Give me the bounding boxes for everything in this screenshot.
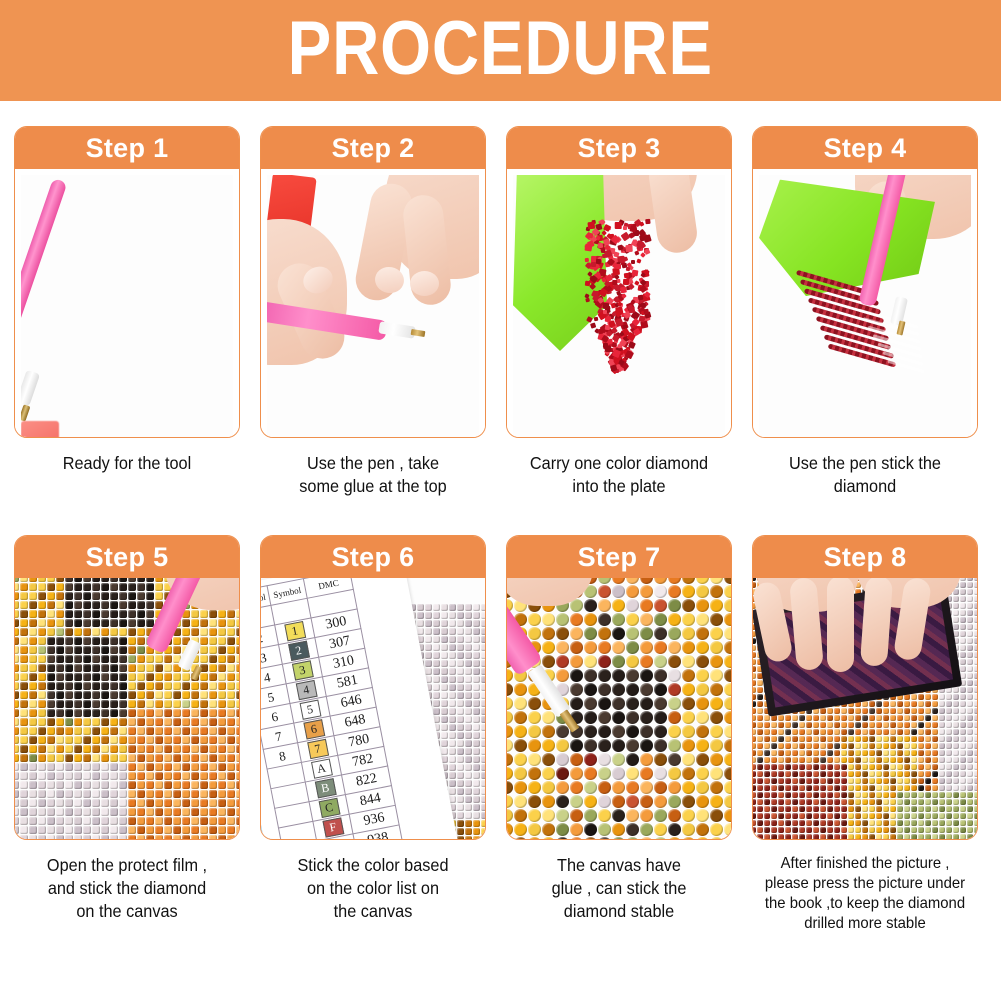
mosaic-bead bbox=[191, 619, 199, 627]
mosaic-bead bbox=[449, 772, 456, 779]
mosaic-bead bbox=[960, 589, 966, 595]
mosaic-bead bbox=[584, 711, 597, 724]
mosaic-bead bbox=[236, 763, 240, 771]
mosaic-bead bbox=[128, 592, 136, 600]
mosaic-bead bbox=[967, 743, 973, 749]
mosaic-bead bbox=[757, 708, 763, 714]
mosaic-bead bbox=[236, 808, 240, 816]
caption-line: the book ,to keep the diamond bbox=[760, 894, 970, 914]
mosaic-bead bbox=[92, 817, 100, 825]
mosaic-bead bbox=[960, 701, 966, 707]
mosaic-bead bbox=[164, 664, 172, 672]
mosaic-bead bbox=[15, 799, 19, 807]
mosaic-bead bbox=[918, 771, 924, 777]
mosaic-bead bbox=[29, 673, 37, 681]
mosaic-bead bbox=[119, 628, 127, 636]
mosaic-bead bbox=[65, 578, 73, 582]
mosaic-bead bbox=[890, 722, 896, 728]
mosaic-bead bbox=[20, 583, 28, 591]
mosaic-bead bbox=[528, 739, 541, 752]
mosaic-bead bbox=[974, 764, 978, 770]
mosaic-bead bbox=[47, 799, 55, 807]
mosaic-bead bbox=[191, 826, 199, 834]
mosaic-bead bbox=[74, 790, 82, 798]
mosaic-bead bbox=[65, 646, 73, 654]
mosaic-bead bbox=[481, 692, 485, 699]
chart-symbol-swatch: 4 bbox=[295, 680, 317, 700]
mosaic-bead bbox=[191, 817, 199, 825]
mosaic-bead bbox=[556, 613, 569, 626]
mosaic-bead bbox=[890, 708, 896, 714]
mosaic-bead bbox=[38, 799, 46, 807]
mosaic-bead bbox=[911, 701, 917, 707]
mosaic-bead bbox=[556, 627, 569, 640]
mosaic-bead bbox=[785, 806, 791, 812]
mosaic-bead bbox=[556, 781, 569, 794]
mosaic-bead bbox=[101, 691, 109, 699]
mosaic-bead bbox=[974, 834, 978, 840]
diamond-bead bbox=[643, 308, 648, 313]
mosaic-bead bbox=[47, 772, 55, 780]
mosaic-bead bbox=[974, 610, 978, 616]
mosaic-bead bbox=[925, 799, 931, 805]
mosaic-bead bbox=[173, 763, 181, 771]
mosaic-bead bbox=[92, 745, 100, 753]
mosaic-bead bbox=[946, 785, 952, 791]
mosaic-bead bbox=[514, 711, 527, 724]
mosaic-bead bbox=[441, 628, 448, 635]
mosaic-bead bbox=[110, 781, 118, 789]
mosaic-bead bbox=[218, 808, 226, 816]
mosaic-bead bbox=[640, 739, 653, 752]
mosaic-bead bbox=[813, 757, 819, 763]
mosaic-bead bbox=[47, 637, 55, 645]
mosaic-bead bbox=[841, 778, 847, 784]
loose-diamonds-group bbox=[571, 211, 665, 387]
mosaic-bead bbox=[441, 676, 448, 683]
mosaic-bead bbox=[29, 808, 37, 816]
mosaic-bead bbox=[696, 781, 709, 794]
mosaic-bead bbox=[918, 834, 924, 840]
mosaic-bead bbox=[200, 781, 208, 789]
mosaic-bead bbox=[953, 687, 959, 693]
mosaic-bead bbox=[465, 780, 472, 787]
mosaic-bead bbox=[974, 806, 978, 812]
mosaic-bead bbox=[137, 745, 145, 753]
mosaic-bead bbox=[827, 736, 833, 742]
mosaic-bead bbox=[932, 820, 938, 826]
mosaic-bead bbox=[799, 722, 805, 728]
mosaic-bead bbox=[960, 578, 966, 581]
mosaic-bead bbox=[904, 722, 910, 728]
mosaic-bead bbox=[457, 812, 464, 819]
mosaic-bead bbox=[200, 628, 208, 636]
mosaic-bead bbox=[890, 820, 896, 826]
mosaic-bead bbox=[20, 610, 28, 618]
mosaic-bead bbox=[570, 795, 583, 808]
mosaic-bead bbox=[65, 601, 73, 609]
mosaic-bead bbox=[119, 664, 127, 672]
mosaic-bead bbox=[953, 806, 959, 812]
mosaic-bead bbox=[960, 645, 966, 651]
mosaic-bead bbox=[960, 708, 966, 714]
mosaic-bead bbox=[834, 729, 840, 735]
mosaic-bead bbox=[806, 827, 812, 833]
step-1-illustration bbox=[21, 175, 233, 438]
mosaic-bead bbox=[173, 682, 181, 690]
mosaic-bead bbox=[481, 700, 485, 707]
mosaic-bead bbox=[813, 792, 819, 798]
mosaic-bead bbox=[806, 757, 812, 763]
mosaic-bead bbox=[182, 817, 190, 825]
mosaic-bead bbox=[507, 837, 513, 839]
mosaic-bead bbox=[457, 796, 464, 803]
mosaic-bead bbox=[918, 715, 924, 721]
mosaic-bead bbox=[92, 664, 100, 672]
diamond-bead bbox=[638, 294, 644, 300]
mosaic-bead bbox=[182, 682, 190, 690]
mosaic-bead bbox=[953, 624, 959, 630]
mosaic-bead bbox=[792, 743, 798, 749]
mosaic-bead bbox=[155, 664, 163, 672]
mosaic-bead bbox=[473, 780, 480, 787]
mosaic-bead bbox=[83, 835, 91, 840]
mosaic-bead bbox=[83, 826, 91, 834]
mosaic-bead bbox=[56, 691, 64, 699]
mosaic-bead bbox=[200, 619, 208, 627]
mosaic-bead bbox=[640, 697, 653, 710]
mosaic-bead bbox=[682, 655, 695, 668]
diamond-bead bbox=[587, 221, 595, 229]
mosaic-bead bbox=[918, 806, 924, 812]
mosaic-bead bbox=[29, 736, 37, 744]
mosaic-bead bbox=[56, 790, 64, 798]
mosaic-bead bbox=[939, 757, 945, 763]
mosaic-bead bbox=[56, 835, 64, 840]
mosaic-bead bbox=[449, 748, 456, 755]
mosaic-bead bbox=[449, 660, 456, 667]
mosaic-bead bbox=[710, 599, 723, 612]
mosaic-bead bbox=[771, 750, 777, 756]
mosaic-bead bbox=[74, 745, 82, 753]
mosaic-bead bbox=[967, 659, 973, 665]
mosaic-bead bbox=[119, 578, 127, 582]
mosaic-bead bbox=[771, 729, 777, 735]
mosaic-bead bbox=[890, 799, 896, 805]
mosaic-bead bbox=[65, 664, 73, 672]
mosaic-bead bbox=[110, 817, 118, 825]
mosaic-bead bbox=[953, 715, 959, 721]
mosaic-bead bbox=[911, 708, 917, 714]
mosaic-bead bbox=[542, 711, 555, 724]
mosaic-bead bbox=[967, 596, 973, 602]
mosaic-bead bbox=[897, 729, 903, 735]
mosaic-bead bbox=[209, 745, 217, 753]
mosaic-bead bbox=[778, 834, 784, 840]
mosaic-bead bbox=[925, 792, 931, 798]
mosaic-bead bbox=[47, 736, 55, 744]
mosaic-bead bbox=[834, 792, 840, 798]
mosaic-bead bbox=[911, 736, 917, 742]
mosaic-bead bbox=[753, 673, 756, 679]
mosaic-bead bbox=[155, 772, 163, 780]
mosaic-bead bbox=[911, 834, 917, 840]
mosaic-bead bbox=[932, 729, 938, 735]
mosaic-bead bbox=[682, 599, 695, 612]
mosaic-bead bbox=[542, 837, 555, 839]
mosaic-bead bbox=[465, 820, 472, 827]
mosaic-bead bbox=[883, 771, 889, 777]
mosaic-bead bbox=[626, 585, 639, 598]
mosaic-bead bbox=[710, 627, 723, 640]
mosaic-bead bbox=[92, 691, 100, 699]
mosaic-bead bbox=[119, 691, 127, 699]
diamond-bead bbox=[596, 259, 601, 264]
mosaic-bead bbox=[542, 739, 555, 752]
mosaic-bead bbox=[753, 722, 756, 728]
mosaic-bead bbox=[65, 781, 73, 789]
mosaic-bead bbox=[820, 778, 826, 784]
mosaic-bead bbox=[668, 599, 681, 612]
mosaic-bead bbox=[974, 582, 978, 588]
mosaic-bead bbox=[918, 778, 924, 784]
mosaic-bead bbox=[869, 757, 875, 763]
chart-symbol-swatch: 6 bbox=[303, 719, 325, 739]
mosaic-bead bbox=[29, 718, 37, 726]
mosaic-bead bbox=[15, 664, 19, 672]
mosaic-bead bbox=[191, 709, 199, 717]
mosaic-bead bbox=[724, 599, 731, 612]
mosaic-bead bbox=[771, 785, 777, 791]
mosaic-bead bbox=[974, 694, 978, 700]
mosaic-bead bbox=[20, 745, 28, 753]
mosaic-bead bbox=[654, 669, 667, 682]
mosaic-bead bbox=[897, 715, 903, 721]
mosaic-bead bbox=[441, 700, 448, 707]
mosaic-bead bbox=[92, 736, 100, 744]
mosaic-bead bbox=[119, 700, 127, 708]
mosaic-bead bbox=[209, 682, 217, 690]
mosaic-bead bbox=[598, 809, 611, 822]
mosaic-bead bbox=[584, 767, 597, 780]
mosaic-bead bbox=[556, 823, 569, 836]
mosaic-bead bbox=[83, 745, 91, 753]
step-card-4: Step 4 Use the pen stick the diamond bbox=[752, 126, 978, 498]
mosaic-bead bbox=[110, 578, 118, 582]
mosaic-bead bbox=[119, 745, 127, 753]
mosaic-bead bbox=[65, 745, 73, 753]
mosaic-bead bbox=[110, 610, 118, 618]
mosaic-bead bbox=[967, 603, 973, 609]
mosaic-bead bbox=[191, 754, 199, 762]
mosaic-bead bbox=[792, 827, 798, 833]
mosaic-bead bbox=[967, 757, 973, 763]
mosaic-bead bbox=[47, 808, 55, 816]
mosaic-bead bbox=[932, 792, 938, 798]
mosaic-bead bbox=[191, 610, 199, 618]
mosaic-bead bbox=[848, 827, 854, 833]
caption-line: some glue at the top bbox=[268, 475, 478, 498]
mosaic-bead bbox=[696, 585, 709, 598]
mosaic-bead bbox=[724, 767, 731, 780]
mosaic-bead bbox=[876, 743, 882, 749]
mosaic-bead bbox=[218, 610, 226, 618]
mosaic-bead bbox=[218, 709, 226, 717]
mosaic-bead bbox=[92, 718, 100, 726]
mosaic-bead bbox=[640, 725, 653, 738]
mosaic-bead bbox=[209, 637, 217, 645]
mosaic-bead bbox=[925, 750, 931, 756]
mosaic-bead bbox=[38, 682, 46, 690]
chart-symbol-swatch: F bbox=[322, 818, 344, 838]
mosaic-bead bbox=[137, 817, 145, 825]
mosaic-bead bbox=[128, 673, 136, 681]
mosaic-bead bbox=[890, 778, 896, 784]
mosaic-bead bbox=[668, 683, 681, 696]
mosaic-bead bbox=[640, 655, 653, 668]
diamond-bead bbox=[622, 293, 628, 299]
mosaic-bead bbox=[38, 745, 46, 753]
mosaic-bead bbox=[753, 736, 756, 742]
mosaic-bead bbox=[481, 684, 485, 691]
mosaic-bead bbox=[960, 785, 966, 791]
mosaic-bead bbox=[74, 610, 82, 618]
mosaic-bead bbox=[925, 771, 931, 777]
mosaic-bead bbox=[481, 804, 485, 811]
mosaic-bead bbox=[813, 799, 819, 805]
mosaic-bead bbox=[682, 739, 695, 752]
mosaic-bead bbox=[74, 664, 82, 672]
mosaic-bead bbox=[953, 785, 959, 791]
mosaic-bead bbox=[56, 673, 64, 681]
mosaic-bead bbox=[191, 781, 199, 789]
mosaic-bead bbox=[904, 792, 910, 798]
mosaic-bead bbox=[862, 722, 868, 728]
mosaic-bead bbox=[209, 754, 217, 762]
mosaic-bead bbox=[83, 754, 91, 762]
caption-line: diamond stable bbox=[514, 900, 724, 923]
mosaic-bead bbox=[668, 697, 681, 710]
mosaic-bead bbox=[654, 711, 667, 724]
mosaic-bead bbox=[542, 795, 555, 808]
mosaic-bead bbox=[710, 683, 723, 696]
mosaic-bead bbox=[654, 837, 667, 839]
mosaic-bead bbox=[932, 743, 938, 749]
mosaic-bead bbox=[668, 627, 681, 640]
mosaic-bead bbox=[918, 757, 924, 763]
mosaic-bead bbox=[128, 835, 136, 840]
diamond-bead bbox=[625, 245, 632, 252]
step-7-card: Step 7 bbox=[506, 535, 732, 840]
mosaic-bead bbox=[862, 764, 868, 770]
mosaic-bead bbox=[74, 628, 82, 636]
step-5-title: Step 5 bbox=[86, 542, 169, 573]
mosaic-bead bbox=[528, 823, 541, 836]
mosaic-bead bbox=[967, 680, 973, 686]
mosaic-bead bbox=[974, 757, 978, 763]
mosaic-bead bbox=[481, 764, 485, 771]
mosaic-bead bbox=[128, 826, 136, 834]
mosaic-bead bbox=[20, 709, 28, 717]
mosaic-bead bbox=[792, 764, 798, 770]
mosaic-bead bbox=[164, 673, 172, 681]
mosaic-bead bbox=[876, 701, 882, 707]
mosaic-bead bbox=[771, 771, 777, 777]
mosaic-bead bbox=[92, 727, 100, 735]
mosaic-bead bbox=[514, 837, 527, 839]
mosaic-bead bbox=[785, 722, 791, 728]
mosaic-bead bbox=[841, 792, 847, 798]
mosaic-bead bbox=[967, 827, 973, 833]
mosaic-bead bbox=[834, 806, 840, 812]
mosaic-bead bbox=[757, 701, 763, 707]
mosaic-bead bbox=[668, 641, 681, 654]
mosaic-bead bbox=[110, 619, 118, 627]
step-7-header: Step 7 bbox=[507, 536, 731, 578]
mosaic-bead bbox=[173, 637, 181, 645]
mosaic-bead bbox=[236, 664, 240, 672]
mosaic-bead bbox=[974, 617, 978, 623]
mosaic-bead bbox=[200, 646, 208, 654]
mosaic-bead bbox=[173, 727, 181, 735]
mosaic-bead bbox=[182, 826, 190, 834]
mosaic-bead bbox=[200, 610, 208, 618]
mosaic-bead bbox=[785, 792, 791, 798]
mosaic-bead bbox=[465, 756, 472, 763]
mosaic-bead bbox=[753, 701, 756, 707]
mosaic-bead bbox=[785, 743, 791, 749]
mosaic-bead bbox=[20, 835, 28, 840]
mosaic-bead bbox=[813, 834, 819, 840]
mosaic-bead bbox=[799, 757, 805, 763]
mosaic-bead bbox=[827, 715, 833, 721]
mosaic-bead bbox=[598, 641, 611, 654]
mosaic-bead bbox=[785, 827, 791, 833]
mosaic-bead bbox=[191, 835, 199, 840]
mosaic-bead bbox=[862, 708, 868, 714]
mosaic-bead bbox=[110, 790, 118, 798]
mosaic-bead bbox=[724, 795, 731, 808]
mosaic-bead bbox=[778, 813, 784, 819]
mosaic-bead bbox=[764, 792, 770, 798]
mosaic-bead bbox=[29, 601, 37, 609]
mosaic-bead bbox=[47, 592, 55, 600]
mosaic-bead bbox=[932, 708, 938, 714]
mosaic-bead bbox=[101, 718, 109, 726]
mosaic-bead bbox=[946, 792, 952, 798]
mosaic-bead bbox=[932, 785, 938, 791]
mosaic-bead bbox=[848, 785, 854, 791]
mosaic-bead bbox=[556, 837, 569, 839]
mosaic-bead bbox=[654, 641, 667, 654]
mosaic-bead bbox=[939, 778, 945, 784]
mosaic-bead bbox=[119, 754, 127, 762]
mosaic-bead bbox=[83, 655, 91, 663]
mosaic-bead bbox=[696, 767, 709, 780]
mosaic-bead bbox=[92, 601, 100, 609]
mosaic-bead bbox=[449, 764, 456, 771]
mosaic-bead bbox=[799, 820, 805, 826]
diamond-bead bbox=[603, 303, 609, 309]
step-5-caption: Open the protect film , and stick the di… bbox=[22, 854, 232, 923]
mosaic-bead bbox=[946, 722, 952, 728]
mosaic-bead bbox=[74, 781, 82, 789]
mosaic-bead bbox=[967, 764, 973, 770]
mosaic-bead bbox=[974, 589, 978, 595]
mosaic-bead bbox=[164, 682, 172, 690]
mosaic-bead bbox=[137, 578, 145, 582]
mosaic-bead bbox=[848, 778, 854, 784]
